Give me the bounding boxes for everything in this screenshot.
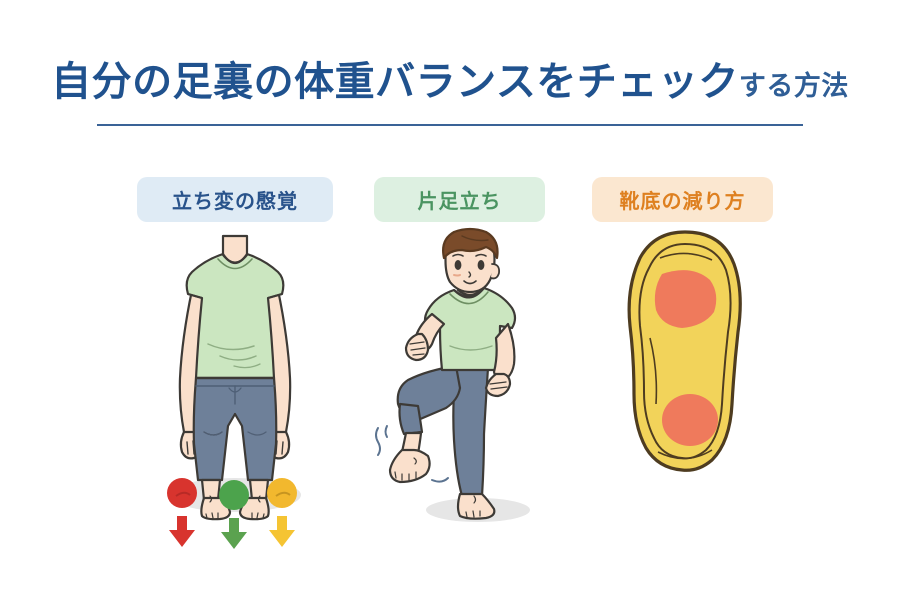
ear	[491, 264, 499, 278]
illustration-shoe-insole	[600, 228, 770, 478]
title-divider	[97, 124, 803, 126]
illustration-one-leg-balance	[370, 228, 570, 528]
badge-shoe-sole-wear[interactable]: 靴底の減り方	[592, 177, 773, 222]
pressure-arrow-center	[221, 518, 247, 549]
badge-one-leg-stand-label: 片足立ち	[418, 185, 502, 214]
fist-left	[406, 334, 428, 360]
badge-stance-feel-label: 立ち変の慇覚	[172, 185, 298, 214]
illustration-standing-body	[130, 228, 340, 558]
poster-canvas: 自分の足裏の体重バランスをチェックする方法 立ち変の慇覚 片足立ち 靴底の減り方	[0, 0, 900, 600]
center-pressure-dot[interactable]	[219, 480, 249, 510]
badge-shoe-sole-wear-label: 靴底の減り方	[620, 185, 746, 214]
pressure-arrow-right	[269, 516, 295, 547]
pressure-arrow-left	[169, 516, 195, 547]
wear-zone-heel[interactable]	[662, 394, 718, 446]
eye-left	[455, 260, 462, 270]
badge-stance-feel[interactable]: 立ち変の慇覚	[137, 177, 333, 222]
standing-foot	[458, 494, 494, 519]
raised-leg-shin-pants	[400, 404, 423, 434]
eye-right	[478, 260, 485, 270]
badge-one-leg-stand[interactable]: 片足立ち	[374, 177, 545, 222]
page-title: 自分の足裏の体重バランスをチェックする方法	[0, 62, 900, 102]
hand-right	[486, 374, 510, 396]
page-title-suffix: する方法	[739, 71, 849, 102]
page-title-main: 自分の足裏の体重バランスをチェック	[51, 59, 739, 105]
